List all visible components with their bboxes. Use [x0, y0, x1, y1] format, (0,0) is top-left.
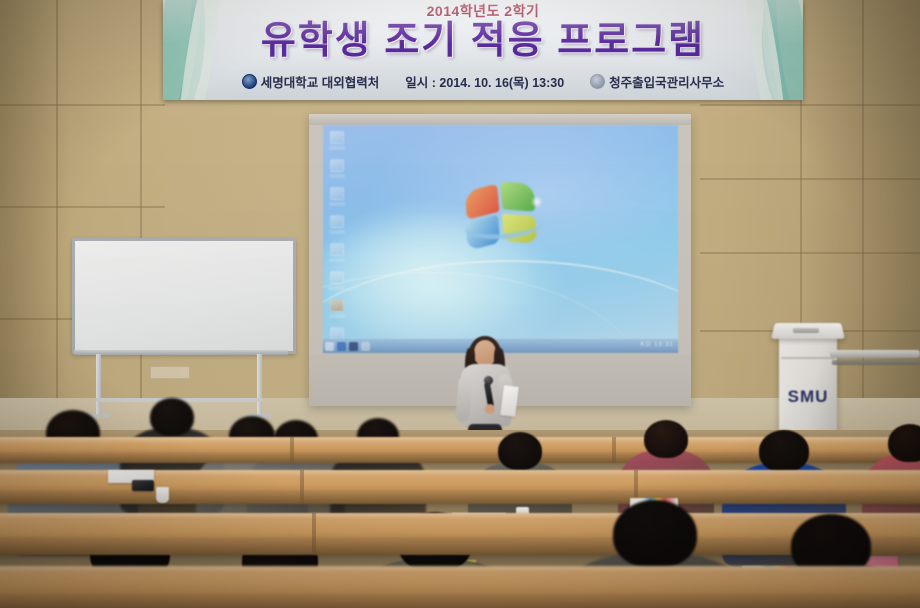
person-head	[888, 424, 920, 462]
folder-icon[interactable]	[329, 271, 345, 291]
taskbar-buttons[interactable]	[325, 342, 370, 351]
podium-seam	[781, 357, 835, 359]
microphone-head	[484, 376, 493, 385]
windows-logo-icon	[462, 181, 541, 253]
taskbar-tray[interactable]: KO 13:31	[641, 342, 674, 348]
start-orb-icon[interactable]	[325, 342, 334, 351]
projected-desktop: KO 13:31	[323, 125, 678, 353]
banner-partner-org: 청주출입국관리사무소	[590, 72, 724, 91]
podium-logo: SMU	[779, 387, 837, 407]
document-icon[interactable]	[329, 215, 345, 235]
mobile-phone	[132, 480, 154, 491]
desk-row	[0, 566, 920, 608]
browser-icon[interactable]	[337, 342, 346, 351]
whiteboard-surface[interactable]	[72, 238, 296, 354]
person-head	[150, 398, 194, 436]
handrail-shadow	[832, 360, 920, 365]
presenter-hand	[485, 404, 495, 414]
desk-divider	[290, 437, 294, 463]
paper-cup	[156, 487, 169, 503]
presenter-head	[474, 340, 496, 366]
handrail	[830, 350, 920, 358]
university-seal-icon	[242, 74, 257, 89]
banner-footer: 세명대학교 대외협력처 일시 : 2014. 10. 16(목) 13:30 청…	[163, 70, 803, 92]
whiteboard-marker-tray	[74, 350, 288, 355]
government-seal-icon	[590, 74, 605, 89]
media-player-icon[interactable]	[329, 299, 345, 319]
windows-logo-sparkle	[529, 195, 544, 210]
person-head	[644, 420, 688, 458]
banner-datetime: 일시 : 2014. 10. 16(목) 13:30	[405, 72, 564, 91]
person-head	[613, 500, 697, 568]
screen-roller	[309, 114, 691, 125]
computer-icon[interactable]	[329, 131, 345, 151]
whiteboard	[72, 238, 290, 420]
podium-handle	[793, 328, 819, 333]
folder-icon[interactable]	[329, 187, 345, 207]
banner-main-title: 유학생 조기 적응 프로그램	[163, 19, 803, 63]
desktop-icon-column[interactable]	[327, 131, 349, 353]
person-head	[759, 430, 809, 472]
person-head	[498, 432, 542, 470]
recycle-bin-icon[interactable]	[329, 159, 345, 179]
desk-divider	[300, 470, 304, 504]
desk-divider	[612, 437, 616, 463]
event-banner: 2014학년도 2학기 유학생 조기 적응 프로그램 세명대학교 대외협력처 일…	[163, 0, 803, 100]
banner-term-text: 2014학년도 2학기	[163, 1, 803, 21]
desk-divider	[312, 513, 316, 555]
whiteboard-leg	[257, 354, 262, 416]
document-icon[interactable]	[329, 243, 345, 263]
banner-host-org: 세명대학교 대외협력처	[242, 72, 379, 91]
explorer-icon[interactable]	[349, 342, 358, 351]
media-icon[interactable]	[361, 342, 370, 351]
wall-vent	[150, 366, 190, 379]
lecture-hall-photo: 2014학년도 2학기 유학생 조기 적응 프로그램 세명대학교 대외협력처 일…	[0, 0, 920, 608]
banner-host-org-label: 세명대학교 대외협력처	[261, 72, 379, 91]
whiteboard-leg	[96, 354, 101, 416]
banner-partner-org-label: 청주출입국관리사무소	[609, 72, 724, 91]
